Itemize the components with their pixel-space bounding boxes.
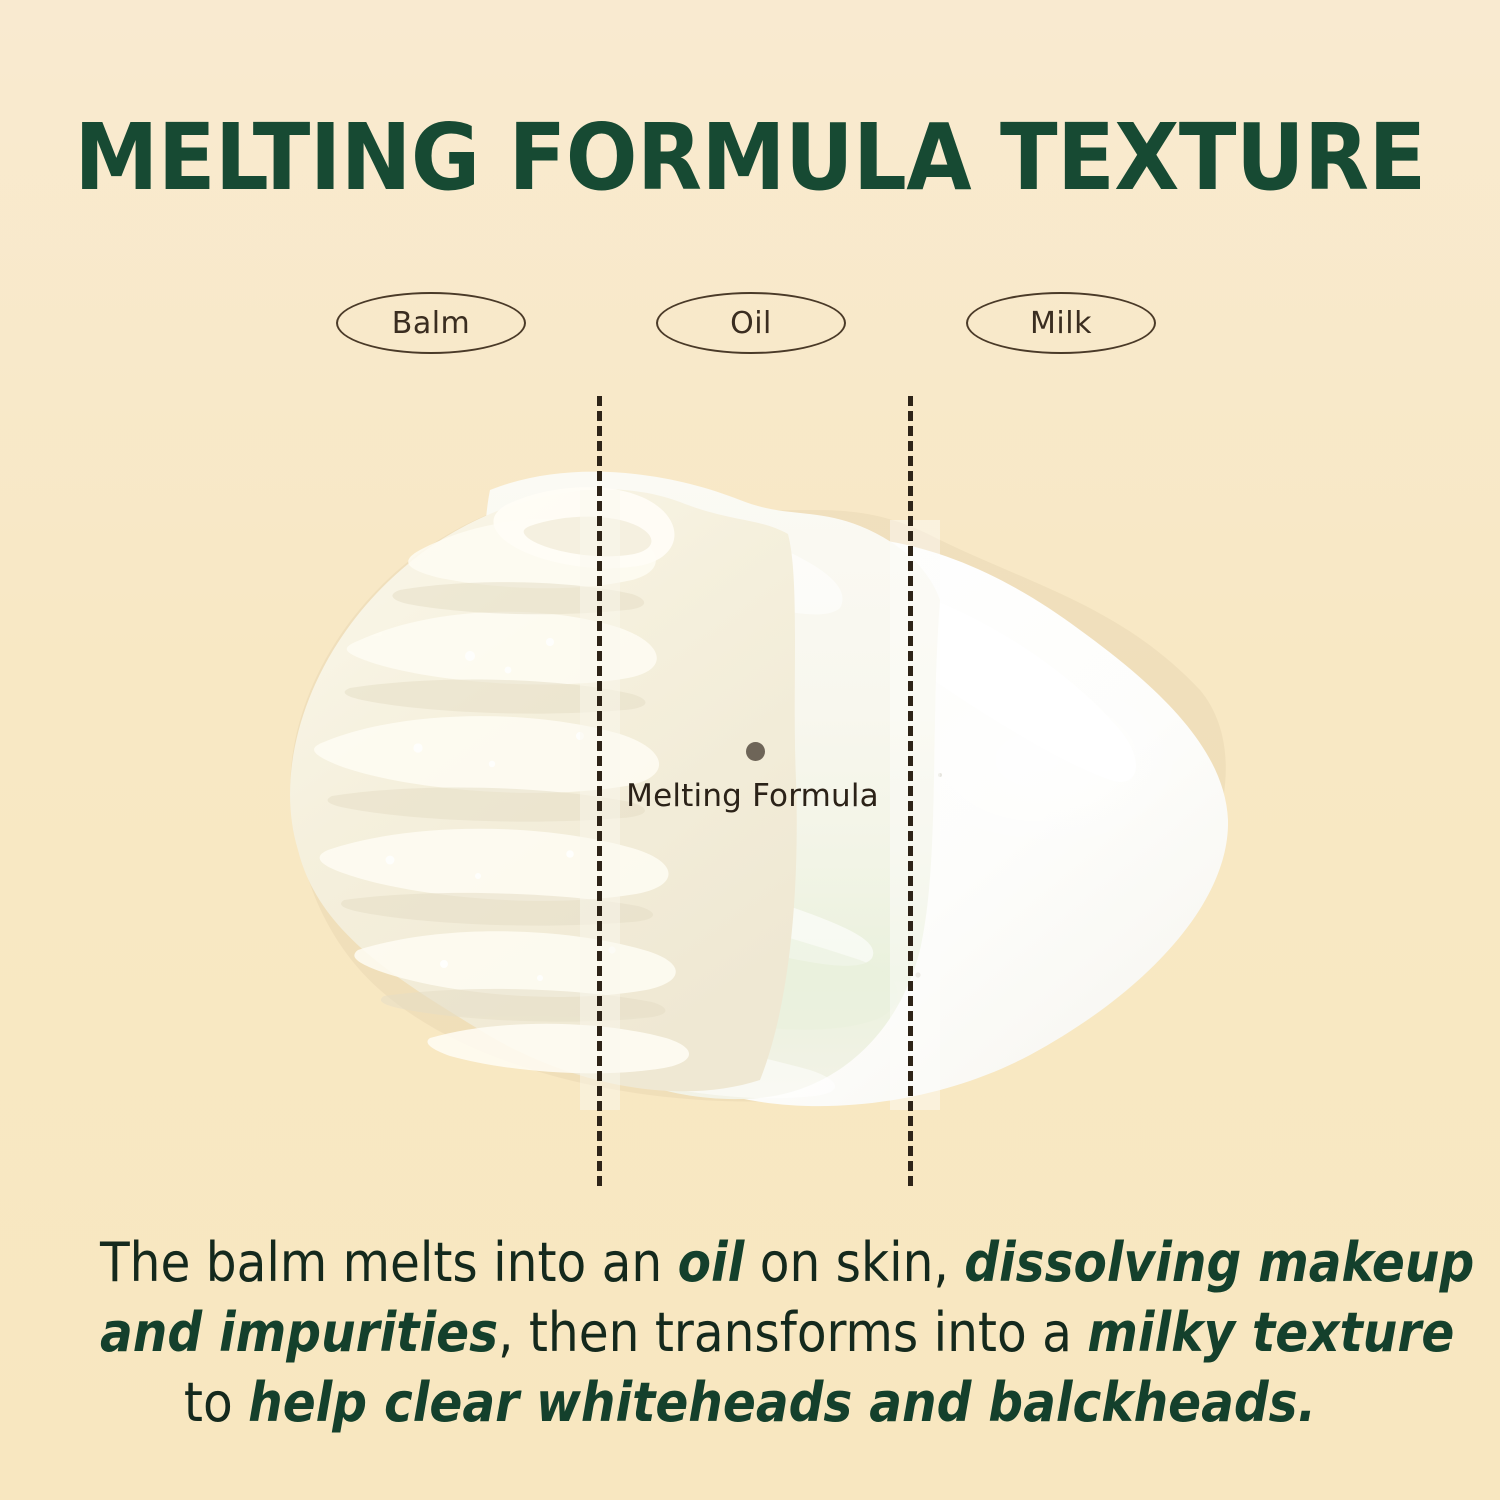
annotation-dot-icon: [746, 742, 765, 761]
caption-text: to: [184, 1371, 248, 1434]
caption-emphasis: help clear whiteheads and balckheads.: [248, 1371, 1316, 1434]
caption-emphasis: and impurities: [100, 1301, 498, 1364]
stage-label-balm: Balm: [336, 292, 526, 354]
page-title: MELTING FORMULA TEXTURE: [0, 112, 1500, 204]
annotation-label: Melting Formula: [597, 778, 908, 814]
caption-line: to help clear whiteheads and balckheads.: [100, 1368, 1400, 1438]
caption-block: The balm melts into an oil on skin, diss…: [100, 1228, 1400, 1438]
caption-text: on skin,: [744, 1231, 964, 1294]
stage-label-oil: Oil: [656, 292, 846, 354]
stage-label-oil-text: Oil: [730, 306, 772, 341]
caption-emphasis: oil: [678, 1231, 745, 1294]
caption-emphasis: milky texture: [1087, 1301, 1454, 1364]
caption-text: The balm melts into an: [100, 1231, 678, 1294]
stage-label-milk-text: Milk: [1030, 306, 1092, 341]
caption-emphasis: dissolving makeup: [964, 1231, 1474, 1294]
stage-label-balm-text: Balm: [392, 306, 471, 341]
caption-line: The balm melts into an oil on skin, diss…: [100, 1228, 1400, 1298]
divider-oil-milk: [908, 396, 913, 1186]
caption-text: , then transforms into a: [498, 1301, 1087, 1364]
stage-label-milk: Milk: [966, 292, 1156, 354]
poster-canvas: MELTING FORMULA TEXTURE Balm Oil Milk: [0, 0, 1500, 1500]
caption-line: and impurities, then transforms into a m…: [100, 1298, 1400, 1368]
